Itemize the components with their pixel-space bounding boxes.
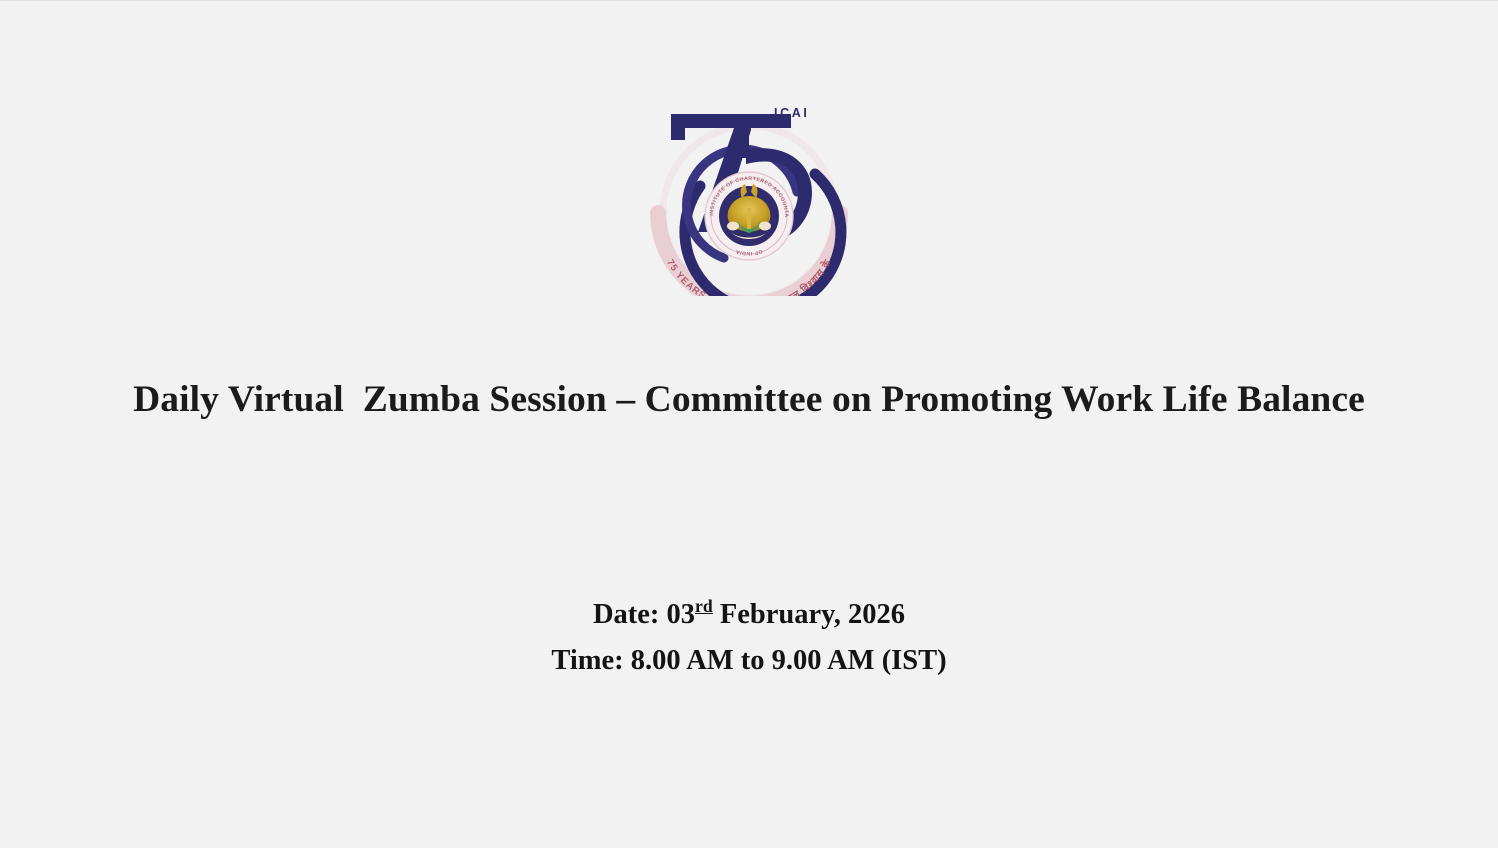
icai-75-logo-graphic: ICAI THE INSTITUTE OF CHARTERED ACCOUNTA… <box>634 100 864 296</box>
icai-75-years-logo: ICAI THE INSTITUTE OF CHARTERED ACCOUNTA… <box>634 100 864 296</box>
session-details: Date: 03rd February, 2026 Time: 8.00 AM … <box>0 592 1498 684</box>
slide-title: Daily Virtual Zumba Session – Committee … <box>0 378 1498 422</box>
logo-icai-wordmark: ICAI <box>774 106 809 120</box>
session-date-prefix: Date: 03 <box>593 599 695 630</box>
session-date-ordinal: rd <box>695 596 713 616</box>
session-date-line: Date: 03rd February, 2026 <box>0 592 1498 638</box>
session-time-line: Time: 8.00 AM to 9.00 AM (IST) <box>0 638 1498 684</box>
session-date-suffix: February, 2026 <box>713 599 905 630</box>
bottom-letterbox-strip <box>0 848 1498 856</box>
top-hairline-divider <box>0 0 1498 1</box>
presentation-slide: ICAI THE INSTITUTE OF CHARTERED ACCOUNTA… <box>0 0 1498 856</box>
